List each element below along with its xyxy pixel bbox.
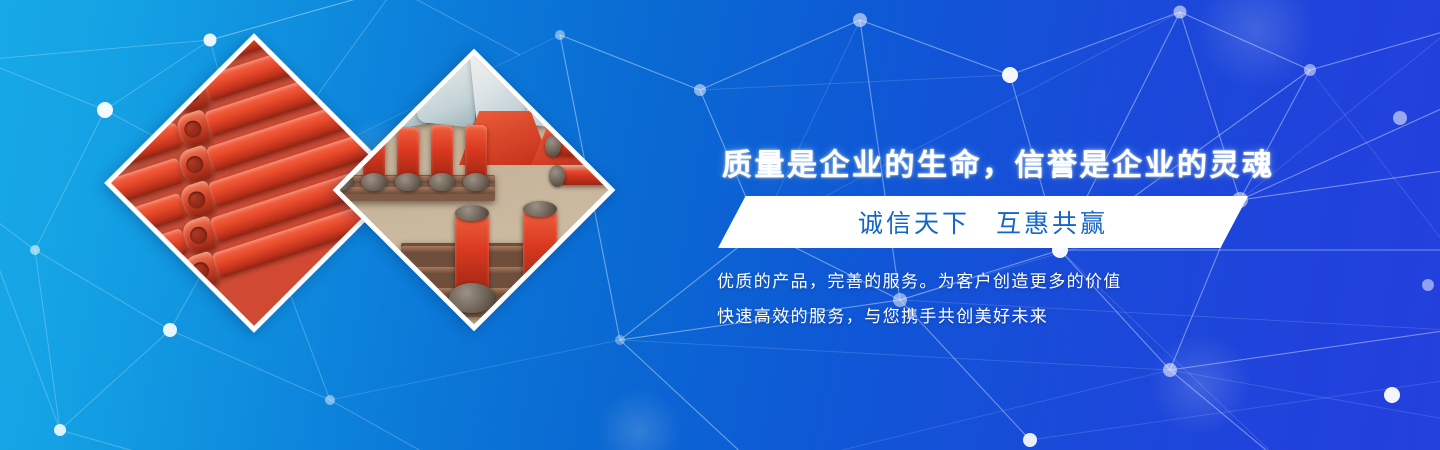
slogan-right: 互惠共赢 bbox=[996, 204, 1108, 240]
banner-headline: 质量是企业的生命，信誉是企业的灵魂 bbox=[722, 140, 1275, 184]
banner-subtext-line-1: 优质的产品，完善的服务。为客户创造更多的价值 bbox=[717, 267, 1122, 292]
slogan-left: 诚信天下 bbox=[858, 204, 970, 240]
slogan-ribbon-text: 诚信天下 互惠共赢 bbox=[718, 196, 1248, 248]
banner-subtext-line-2: 快速高效的服务，与您携手共创美好未来 bbox=[717, 302, 1048, 327]
slogan-ribbon: 诚信天下 互惠共赢 bbox=[718, 196, 1248, 248]
promo-banner: .ln{stroke:#ffffff;fill:none;} .l1{strok… bbox=[0, 0, 1440, 450]
